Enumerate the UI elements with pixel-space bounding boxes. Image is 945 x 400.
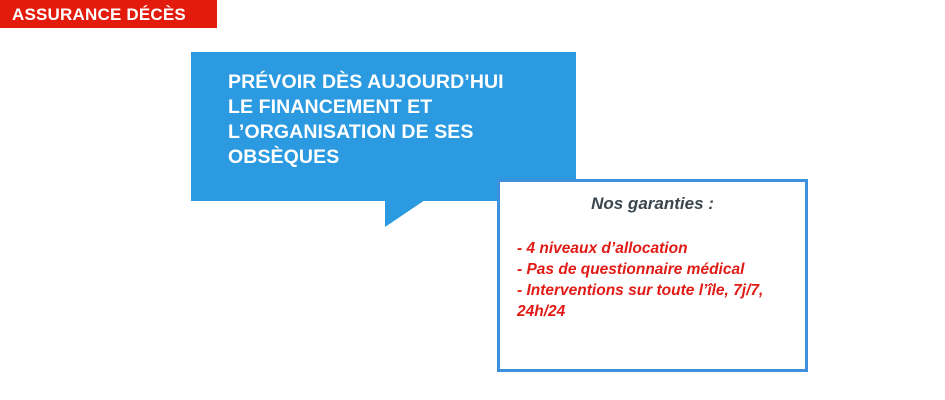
list-item: - Interventions sur toute l’île, 7j/7, 2… (517, 280, 791, 322)
guarantees-box: Nos garanties : - 4 niveaux d’allocation… (497, 179, 808, 372)
category-banner-label: ASSURANCE DÉCÈS (12, 6, 186, 23)
slide-canvas: ASSURANCE DÉCÈS PRÉVOIR DÈS AUJOURD’HUI … (0, 0, 945, 400)
speech-bubble-tail (385, 200, 425, 227)
headline-line-4: OBSÈQUES (228, 145, 566, 170)
list-item: - Pas de questionnaire médical (517, 259, 791, 280)
headline-line-1: PRÉVOIR DÈS AUJOURD’HUI (228, 70, 566, 95)
category-banner: ASSURANCE DÉCÈS (0, 0, 217, 28)
list-item: - 4 niveaux d’allocation (517, 238, 791, 259)
headline-text: PRÉVOIR DÈS AUJOURD’HUI LE FINANCEMENT E… (228, 70, 566, 170)
guarantees-title: Nos garanties : (500, 182, 805, 215)
headline-line-3: L’ORGANISATION DE SES (228, 120, 566, 145)
guarantees-list: - 4 niveaux d’allocation - Pas de questi… (500, 215, 805, 322)
headline-line-2: LE FINANCEMENT ET (228, 95, 566, 120)
